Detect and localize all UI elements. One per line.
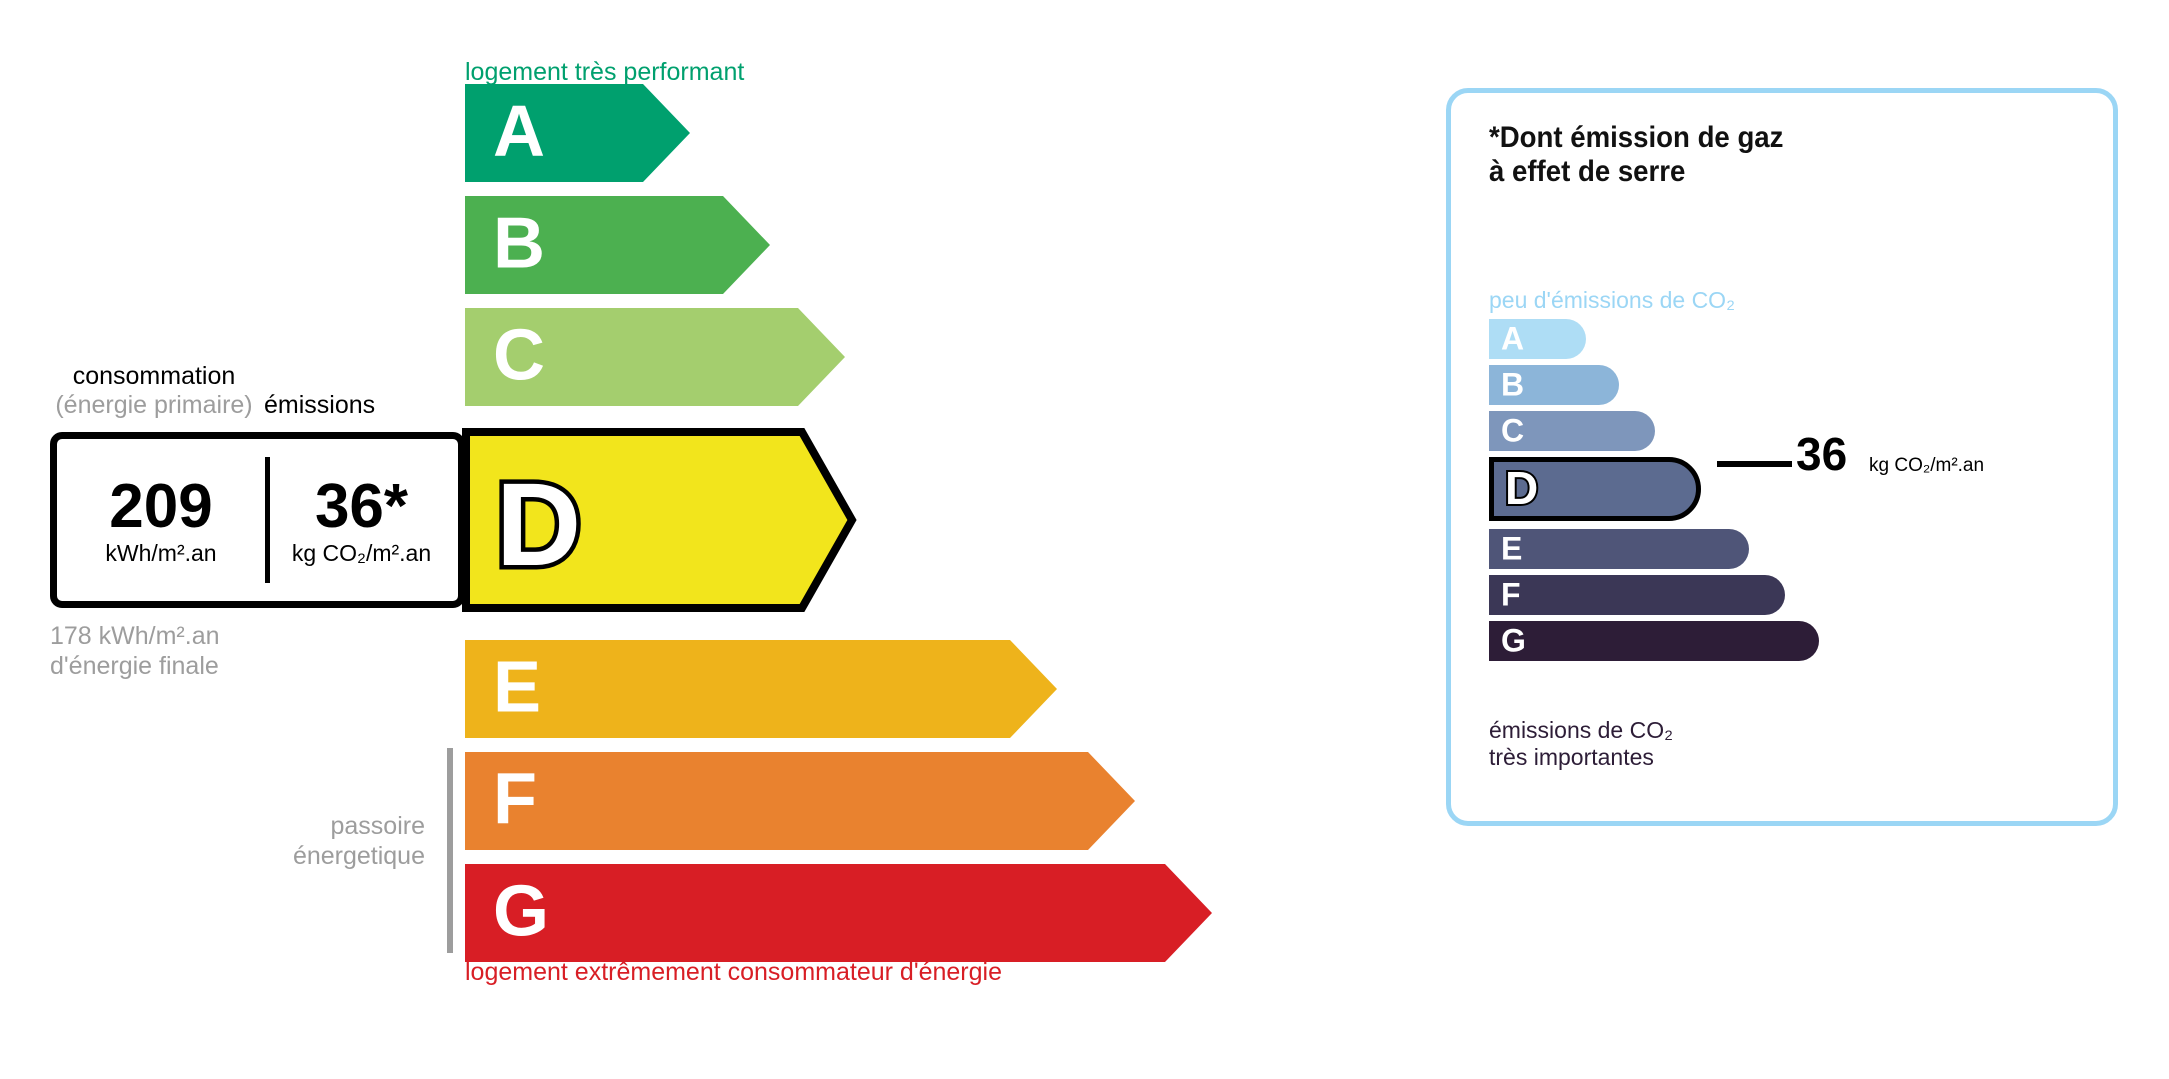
energy-band-letter-a: A — [493, 96, 545, 168]
co2-callout-value: 36 — [1796, 431, 1847, 477]
co2-band-letter-d: D — [1505, 465, 1538, 511]
consumption-value-cell: 209 kWh/m².an — [57, 439, 265, 601]
energy-band-f: F — [465, 752, 1135, 850]
co2-bar-shape-f — [1489, 575, 1785, 615]
co2-band-b: B — [1489, 365, 1619, 405]
passoire-label-line1: passoire — [180, 812, 425, 842]
co2-band-letter-c: C — [1501, 414, 1524, 446]
emission-value: 36* — [315, 476, 408, 538]
co2-panel-title-line1: *Dont émission de gaz — [1489, 121, 1783, 155]
co2-bottom-caption-line2: très importantes — [1489, 744, 1673, 771]
co2-callout-unit: kg CO₂/m².an — [1869, 456, 1984, 475]
co2-band-letter-g: G — [1501, 624, 1526, 656]
co2-band-d-selected: D — [1489, 457, 1701, 521]
co2-bar-shape-e — [1489, 529, 1749, 569]
energy-band-letter-b: B — [493, 208, 545, 280]
consumption-label: consommation (énergie primaire) — [50, 362, 258, 420]
co2-band-f: F — [1489, 575, 1785, 615]
co2-band-a: A — [1489, 319, 1586, 359]
final-energy-note: 178 kWh/m².an d'énergie finale — [50, 622, 220, 681]
co2-band-letter-f: F — [1501, 578, 1521, 610]
band-arrow-shape-g — [465, 864, 1212, 962]
co2-panel-title-line2: à effet de serre — [1489, 155, 1783, 189]
passoire-label-line2: énergetique — [180, 842, 425, 872]
co2-band-e: E — [1489, 529, 1749, 569]
co2-bar-shape-g — [1489, 621, 1819, 661]
co2-panel-title: *Dont émission de gaz à effet de serre — [1489, 121, 1783, 188]
passoire-bracket — [447, 748, 453, 953]
value-readout-box: 209 kWh/m².an 36* kg CO₂/m².an — [50, 432, 465, 608]
consumption-label-sub: (énergie primaire) — [50, 391, 258, 420]
emissions-label: émissions — [264, 391, 375, 420]
energy-band-letter-e: E — [493, 652, 541, 724]
consumption-label-title: consommation — [73, 362, 236, 390]
final-energy-sub: d'énergie finale — [50, 652, 220, 682]
co2-bottom-caption: émissions de CO₂ très importantes — [1489, 717, 1673, 771]
energy-band-a: A — [465, 84, 690, 182]
consumption-value-unit: kWh/m².an — [105, 542, 216, 565]
emission-value-cell: 36* kg CO₂/m².an — [265, 439, 458, 601]
energy-band-letter-c: C — [493, 320, 545, 392]
co2-band-letter-b: B — [1501, 368, 1524, 400]
band-arrow-shape-d: D — [462, 428, 858, 612]
energy-band-g: G — [465, 864, 1212, 962]
energy-band-e: E — [465, 640, 1057, 738]
co2-band-letter-e: E — [1501, 532, 1522, 564]
co2-top-caption: peu d'émissions de CO₂ — [1489, 287, 1735, 314]
co2-callout-leader-line — [1717, 461, 1792, 467]
energy-band-b: B — [465, 196, 770, 294]
energy-band-d-selected: D — [462, 428, 858, 612]
band-arrow-shape-e — [465, 640, 1057, 738]
scale-bottom-caption: logement extrêmement consommateur d'éner… — [465, 958, 1002, 988]
co2-band-c: C — [1489, 411, 1655, 451]
co2-band-g: G — [1489, 621, 1819, 661]
final-energy-value: 178 kWh/m².an — [50, 622, 220, 652]
energy-band-letter-g: G — [493, 876, 549, 948]
consumption-value: 209 — [109, 476, 212, 538]
energy-performance-scale: logement très performant A B C D E — [0, 0, 1380, 1079]
band-arrow-shape-f — [465, 752, 1135, 850]
co2-bottom-caption-line1: émissions de CO₂ — [1489, 717, 1673, 744]
passoire-label: passoire énergetique — [180, 812, 425, 871]
co2-band-letter-a: A — [1501, 322, 1524, 354]
energy-band-letter-f: F — [493, 764, 537, 836]
svg-text:D: D — [496, 459, 581, 591]
emission-value-unit: kg CO₂/m².an — [292, 542, 431, 565]
energy-band-c: C — [465, 308, 845, 406]
co2-emissions-panel: *Dont émission de gaz à effet de serre p… — [1446, 88, 2118, 826]
